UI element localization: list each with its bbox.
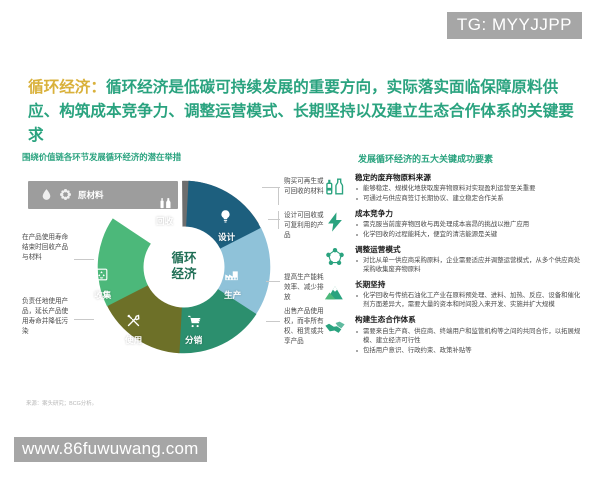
factor-bullets: 需要来自生产商、供应商、终端用户和监管机构等之间的共同合作，以拓展规模、建立经济…	[355, 327, 584, 355]
callout-design-out: 设计可回收或可复利用的产品	[284, 211, 326, 241]
factor-title: 调整运营模式	[355, 245, 584, 255]
tg-badge-label: TG: MYYJJPP	[457, 15, 572, 34]
success-factor-item: 构建生态合作体系 需要来自生产商、供应商、终端用户和监管机构等之间的共同合作，以…	[322, 315, 584, 355]
water-drop-icon	[40, 188, 53, 201]
segment-label-recycle: 回收	[156, 215, 173, 227]
success-factor-item: 成本竞争力 需克服当前废弃物回收与再处理成本高昂的挑战以推广应用 化学回收的过程…	[322, 209, 584, 240]
segment-label-distribute: 分销	[185, 334, 202, 346]
recycle-bin-icon	[94, 267, 109, 282]
leader-line-distribute	[266, 321, 280, 322]
leader-line-design-in-v	[278, 187, 279, 205]
callout-design-in: 购买可再生或可回收的材料	[284, 177, 326, 197]
leader-line-use	[74, 319, 94, 320]
factor-title: 构建生态合作体系	[355, 315, 584, 325]
segment-label-collect: 收集	[94, 289, 111, 301]
factor-bullet: 能够稳定、规模化地获取废弃物原料对实现盈利运营至关重要	[355, 184, 584, 193]
tools-icon	[126, 313, 141, 328]
handshake-icon	[322, 315, 348, 343]
factor-bullets: 能够稳定、规模化地获取废弃物原料对实现盈利运营至关重要 可通过与供应商签订长期协…	[355, 184, 584, 203]
site-watermark: www.86fuwuwang.com	[14, 437, 207, 462]
leader-line-design-out-v	[278, 211, 279, 229]
segment-label-design: 设计	[218, 231, 235, 243]
callout-use: 负责任地使用产品，延长产品使用寿命并降低污染	[22, 297, 72, 337]
lightning-icon	[322, 209, 348, 237]
flower-icon	[59, 188, 72, 201]
leader-line-produce	[266, 281, 280, 282]
factor-bullet: 可通过与供应商签订长期协议、建立稳定合作关系	[355, 194, 584, 203]
factor-bullet: 需要来自生产商、供应商、终端用户和监管机构等之间的共同合作，以拓展规模、建立经济…	[355, 327, 584, 346]
right-column: 发展循环经济的五大关键成功要素 稳定的废弃物原料来源 能够稳定、规模化地获取废弃…	[322, 152, 584, 360]
page-title-lead: 循环经济：	[28, 79, 106, 96]
factor-title: 长期坚持	[355, 280, 584, 290]
diagram-hub: 循环 经济	[144, 227, 224, 307]
cart-icon	[187, 314, 202, 329]
success-factor-item: 调整运营模式 对比从单一供应商采购原料，企业需要适应并调整运营模式，从多个供应商…	[322, 245, 584, 275]
source-note: 来源：案头研究；BCG分析。	[26, 399, 97, 407]
network-icon	[322, 245, 348, 273]
factor-bullet: 需克服当前废弃物回收与再处理成本高昂的挑战以推广应用	[355, 220, 584, 229]
factor-bullets: 化学回收与传统石油化工产业在原料预处理、进料、加热、反应、设备和催化剂方面差异大…	[355, 291, 584, 310]
segment-label-produce: 生产	[224, 289, 241, 301]
page-title-rest: 循环经济是低碳可持续发展的重要方向，实际落实面临保障原料供应、构筑成本竞争力、调…	[28, 79, 574, 144]
hub-line-1: 循环	[171, 251, 196, 267]
left-column: 围绕价值链各环节发展循环经济的潜在举措 原材料	[22, 152, 322, 376]
factory-icon	[224, 267, 239, 282]
callout-collect: 在产品使用寿命结束时回收产品与材料	[22, 233, 72, 263]
factor-bullets: 对比从单一供应商采购原料，企业需要适应并调整运营模式，从多个供应商处采购收集废弃…	[355, 256, 584, 275]
page-title: 循环经济：循环经济是低碳可持续发展的重要方向，实际落实面临保障原料供应、构筑成本…	[28, 76, 576, 148]
success-factor-list: 稳定的废弃物原料来源 能够稳定、规模化地获取废弃物原料对实现盈利运营至关重要 可…	[322, 173, 584, 355]
hub-line-2: 经济	[171, 267, 196, 283]
lightbulb-icon	[218, 209, 233, 224]
left-heading: 围绕价值链各环节发展循环经济的潜在举措	[22, 152, 322, 163]
factor-title: 成本竞争力	[355, 209, 584, 219]
factor-bullet: 包括用户意识、行政约束、政策补贴等	[355, 346, 584, 355]
factor-bullets: 需克服当前废弃物回收与再处理成本高昂的挑战以推广应用 化学回收的过程能耗大，便宜…	[355, 220, 584, 239]
success-factor-item: 长期坚持 化学回收与传统石油化工产业在原料预处理、进料、加热、反应、设备和催化剂…	[322, 280, 584, 310]
watermark-label: www.86fuwuwang.com	[22, 439, 199, 458]
factor-bullet: 对比从单一供应商采购原料，企业需要适应并调整运营模式，从多个供应商处采购收集废弃…	[355, 256, 584, 275]
tg-badge: TG: MYYJJPP	[447, 12, 582, 39]
factor-bullet: 化学回收与传统石油化工产业在原料预处理、进料、加热、反应、设备和催化剂方面差异大…	[355, 291, 584, 310]
bottles-icon	[158, 195, 173, 210]
factor-title: 稳定的废弃物原料来源	[355, 173, 584, 183]
right-heading: 发展循环经济的五大关键成功要素	[358, 152, 584, 165]
segment-label-use: 使用	[125, 334, 142, 346]
leader-line-collect	[74, 259, 94, 260]
success-factor-item: 稳定的废弃物原料来源 能够稳定、规模化地获取废弃物原料对实现盈利运营至关重要 可…	[322, 173, 584, 204]
factor-bullet: 化学回收的过程能耗大，便宜的清洁能源是关键	[355, 230, 584, 239]
mountain-icon	[322, 280, 348, 308]
bottles-icon	[322, 173, 348, 201]
circular-economy-diagram: 原材料 循环 经济	[22, 171, 322, 376]
